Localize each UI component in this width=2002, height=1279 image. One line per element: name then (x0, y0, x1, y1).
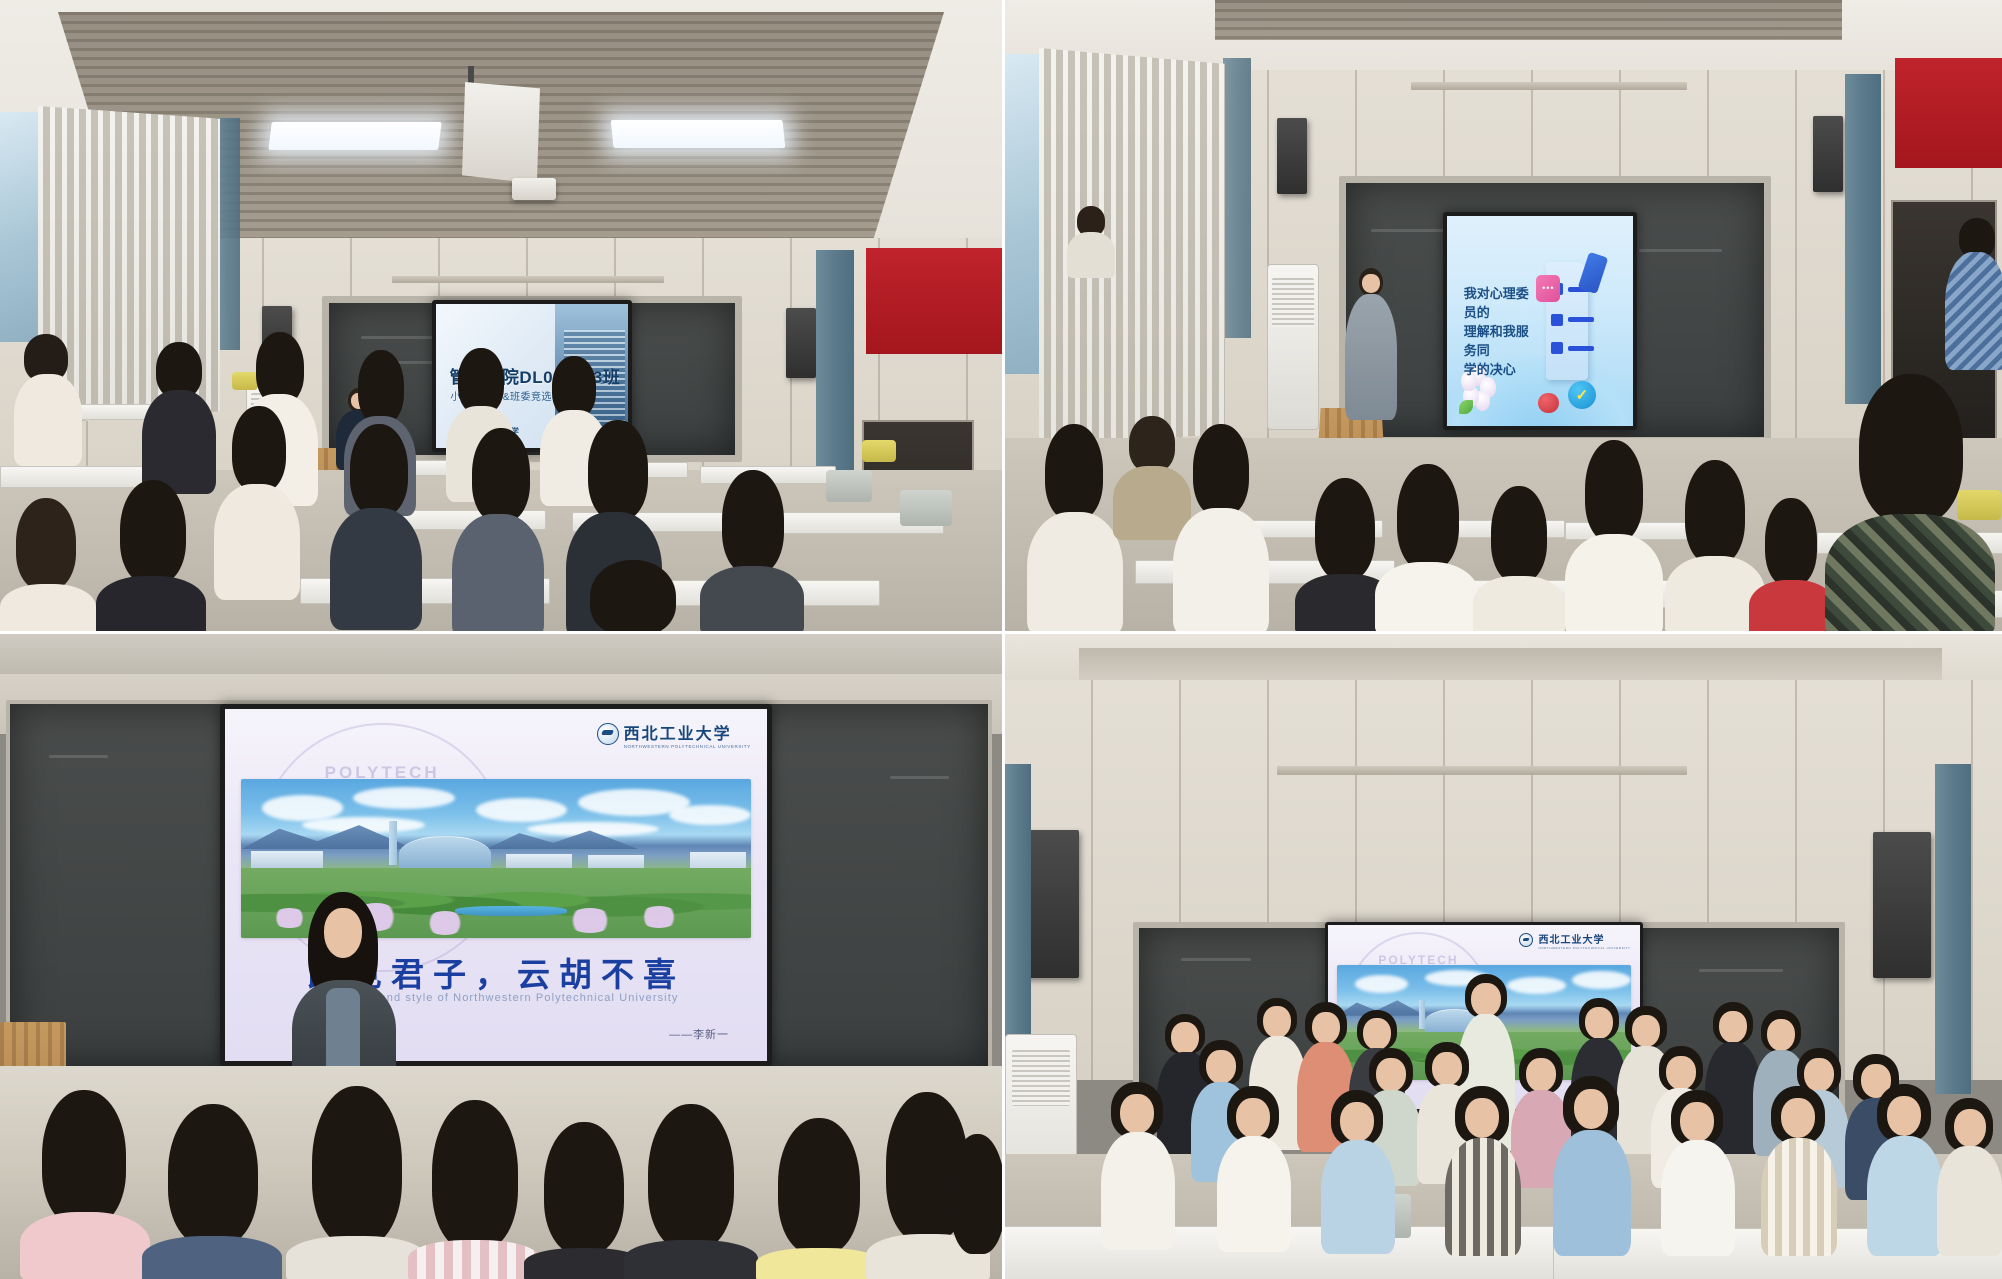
audience-body (408, 1240, 540, 1279)
audience-hair (120, 480, 186, 584)
audience-member (96, 480, 206, 634)
audience-body (20, 1212, 150, 1279)
wall-rail (392, 276, 664, 283)
audience-member (0, 498, 96, 634)
checklist-bar (1568, 346, 1594, 351)
cloud (1507, 977, 1566, 994)
speaker-right (1813, 116, 1843, 192)
member-face (1954, 1109, 1986, 1147)
cloud (262, 795, 344, 820)
presenter (1341, 268, 1401, 418)
pillar-right (1845, 74, 1881, 404)
audience-hair (1397, 464, 1459, 570)
tube-light-right (611, 120, 786, 148)
audience-hair (648, 1104, 734, 1250)
university-logo-en: NORTHWESTERN POLYTECHNICAL UNIVERSITY (624, 744, 751, 749)
audience-body (214, 484, 300, 600)
member-face (1666, 1056, 1696, 1090)
member-face (1465, 1098, 1499, 1138)
red-notice-board (1895, 58, 2002, 168)
university-logo-cn: 西北工业大学 (624, 720, 751, 744)
audience-member (214, 406, 300, 596)
university-emblem-icon (597, 723, 619, 745)
member-face (1887, 1096, 1921, 1136)
audience-body (756, 1248, 882, 1279)
member-face (1574, 1089, 1608, 1129)
presenter-face (1362, 274, 1380, 293)
member-body (1553, 1130, 1631, 1256)
audience-body (330, 508, 422, 630)
audience-member (142, 1104, 282, 1279)
audience-member (408, 1100, 540, 1279)
audience-body (624, 1240, 758, 1279)
group-member (1445, 1086, 1521, 1252)
audience-member (1825, 374, 1995, 634)
audience-body (142, 1236, 282, 1279)
group-member (1217, 1086, 1291, 1248)
audience-body (1473, 576, 1565, 634)
photo-panel-bottom-left: Student presenting class culture slide o… (0, 634, 1005, 1279)
audience-body (96, 576, 206, 634)
audience-member: 西北工业大学管理学院 School of Management NPU (1173, 424, 1269, 634)
pillar-left (1223, 58, 1251, 338)
member-face (1340, 1102, 1374, 1142)
audience-hair (1315, 478, 1375, 580)
audience-member (700, 470, 804, 634)
member-face (1206, 1050, 1236, 1084)
member-face (1120, 1094, 1154, 1134)
member-face (1767, 1019, 1795, 1051)
chair (862, 440, 896, 462)
member-face (1471, 983, 1501, 1017)
audience-body (1565, 534, 1663, 634)
audience-member (20, 1090, 150, 1279)
tube-light-left (268, 122, 441, 150)
member-body (1101, 1132, 1175, 1250)
audience-hair (472, 428, 530, 522)
audience-hair (722, 470, 784, 574)
shirt-text-en: School of Management NPU (1173, 424, 1174, 425)
member-body (1867, 1136, 1943, 1256)
presenter-inner-top (326, 988, 360, 1074)
university-logo-text-group: 西北工业大学 NORTHWESTERN POLYTECHNICAL UNIVER… (624, 720, 751, 749)
chalk-mark (1181, 958, 1251, 961)
ceiling-recess (1215, 0, 1842, 40)
checklist-bar (1568, 317, 1594, 322)
campus-lake (455, 906, 567, 916)
checklist-row (1551, 314, 1594, 326)
audience-body (1173, 508, 1269, 634)
audience-hair (16, 498, 76, 590)
member-face (1781, 1098, 1815, 1138)
red-notice-board (866, 248, 1004, 354)
audience-hair (42, 1090, 126, 1226)
group-member (1661, 1090, 1735, 1252)
audience-body (0, 584, 96, 634)
photo-panel-top-left: Instructor presenting class orientation … (0, 0, 1005, 634)
audience-body (452, 514, 544, 634)
member-face (1363, 1018, 1391, 1050)
university-logo-en: NORTHWESTERN POLYTECHNICAL UNIVERSITY (1538, 946, 1630, 950)
cloud (1355, 975, 1408, 993)
member-body (1761, 1138, 1837, 1256)
shirt-text-cn: 西北工业大学管理学院 (1173, 424, 1174, 425)
presenter-face (324, 908, 362, 958)
cloud (1572, 971, 1631, 989)
audience-hair (552, 356, 596, 418)
checkbox-icon (1551, 314, 1563, 326)
audience-member (1027, 424, 1123, 634)
chalk-mark (1639, 249, 1723, 252)
audience-hair (1765, 498, 1817, 586)
audience-member (1375, 464, 1479, 634)
ac-vent-grill (1272, 278, 1314, 327)
shirt-text-line-2: Cute Bunny (1565, 440, 1566, 441)
campus-tower (389, 821, 397, 865)
member-face (1585, 1007, 1613, 1039)
member-face (1312, 1012, 1340, 1044)
shirt-text-line-1: HOW TO BE A (1565, 440, 1566, 441)
audience-member (330, 424, 422, 624)
member-face (1526, 1058, 1556, 1092)
cloud (353, 787, 455, 809)
audience-body (142, 390, 216, 494)
chair (826, 470, 872, 502)
audience-hair (232, 406, 286, 492)
audience-body (1067, 232, 1115, 278)
audience-body (14, 374, 82, 466)
audience-body (1375, 562, 1479, 634)
university-logo-text-group: 西北工业大学 NORTHWESTERN POLYTECHNICAL UNIVER… (1538, 931, 1630, 950)
audience-member (1945, 218, 2002, 368)
group-member (1321, 1090, 1395, 1250)
chair (900, 490, 952, 526)
member-face (1680, 1102, 1714, 1142)
speaker-left (1277, 118, 1307, 194)
slide-psychology-committee: ✓ 我对心理委员的 理解和我服务同 学的决心 (1447, 216, 1633, 426)
audience-hair (1193, 424, 1249, 516)
chalk-mark (49, 755, 108, 758)
university-logo: 西北工业大学 NORTHWESTERN POLYTECHNICAL UNIVER… (597, 720, 751, 749)
audience-member (756, 1118, 882, 1279)
audience-hair (950, 1134, 1005, 1254)
photo-panel-top-right: Student presenting psychology committee … (1005, 0, 2002, 634)
audience-member (142, 342, 216, 492)
member-body (1217, 1136, 1291, 1252)
member-body (1937, 1146, 2002, 1256)
photo-collage: Instructor presenting class orientation … (0, 0, 2002, 1279)
audience-member (950, 1134, 1005, 1279)
member-body (1445, 1138, 1521, 1256)
audience-member (624, 1104, 758, 1279)
slide-text-line-3: 学的决心 (1464, 361, 1538, 380)
member-body (1661, 1140, 1735, 1256)
audience-hair (778, 1118, 860, 1254)
audience-member (286, 1086, 426, 1279)
projector-vent (512, 178, 556, 200)
pillar-right (1935, 764, 1971, 1094)
group-member (1937, 1098, 2002, 1254)
audience-body (1027, 512, 1123, 634)
badge-icon (1577, 252, 1608, 294)
ceiling-projector (462, 82, 540, 188)
presenter (288, 892, 398, 1088)
member-face (1432, 1052, 1462, 1086)
cloud (476, 798, 568, 822)
audience-hair (168, 1104, 258, 1246)
blossom-tree (425, 911, 466, 935)
checkbox-icon (1551, 342, 1563, 354)
audience-body (1945, 252, 2002, 370)
audience-hair (458, 348, 504, 414)
wall-rail (1277, 766, 1687, 775)
wall-rail (1411, 82, 1687, 90)
slide-text-line-1: 我对心理委员的 (1464, 285, 1538, 323)
audience-hair (312, 1086, 402, 1246)
slide-attribution: ——李新一 (669, 1026, 729, 1042)
audience-hair (358, 350, 404, 424)
group-member (1867, 1084, 1943, 1252)
audience-member (452, 428, 544, 634)
audience-body (1749, 580, 1835, 634)
audience-body (700, 566, 804, 634)
speaker-right (1873, 832, 1931, 978)
audience-hair (432, 1100, 518, 1250)
audience-member (1473, 486, 1565, 634)
audience-hair (1685, 460, 1745, 564)
member-face (1263, 1006, 1291, 1038)
group-member (1553, 1076, 1631, 1252)
member-body (1321, 1140, 1395, 1254)
pillar-left (1005, 764, 1031, 1064)
audience-hair (1491, 486, 1547, 582)
air-conditioner (1267, 264, 1319, 430)
speaker-right (786, 308, 816, 378)
audience-hair (590, 560, 676, 634)
blossom-tree (567, 908, 613, 933)
member-face (1632, 1015, 1660, 1047)
check-circle-icon: ✓ (1568, 381, 1596, 409)
red-sphere-decoration (1538, 393, 1558, 413)
audience-hair (350, 424, 408, 516)
member-face (1376, 1058, 1406, 1092)
audience-hair (1129, 416, 1175, 472)
checklist-row (1551, 342, 1594, 354)
audience-hair (544, 1122, 624, 1254)
audience-body (286, 1236, 426, 1279)
audience-member (1067, 206, 1115, 276)
audience-member: HOW TO BE A Cute Bunny (1565, 440, 1663, 634)
audience-member (14, 334, 82, 464)
university-logo: 西北工业大学 NORTHWESTERN POLYTECHNICAL UNIVER… (1519, 931, 1630, 950)
leaf-icon (1459, 400, 1473, 414)
university-logo-cn: 西北工业大学 (1538, 931, 1630, 946)
ac-vent-grill (1012, 1050, 1071, 1106)
university-emblem-icon (1519, 933, 1533, 947)
interactive-display[interactable]: ✓ 我对心理委员的 理解和我服务同 学的决心 (1443, 212, 1637, 430)
group-member (1101, 1082, 1175, 1246)
audience-hair (1585, 440, 1643, 542)
audience-member (1749, 498, 1835, 634)
slide-text-line-2: 理解和我服务同 (1464, 323, 1538, 361)
slide-body-text: 我对心理委员的 理解和我服务同 学的决心 (1464, 285, 1538, 379)
audience-body (1825, 514, 1995, 634)
cloud (669, 805, 751, 826)
chalk-mark (1699, 969, 1783, 972)
ceiling-trim (1079, 648, 1942, 682)
audience-hair (1859, 374, 1963, 524)
chalk-mark (890, 776, 949, 779)
photo-panel-bottom-right: Class group photo in front of campus sli… (1005, 634, 2002, 1279)
group-member (1761, 1086, 1837, 1252)
audience-hair (1045, 424, 1103, 520)
audience-hair (588, 420, 648, 520)
member-face (1236, 1098, 1270, 1138)
chat-bubble-icon (1536, 275, 1560, 302)
presenter-body (1345, 294, 1397, 420)
member-face (1719, 1011, 1747, 1043)
audience-member (560, 560, 710, 634)
